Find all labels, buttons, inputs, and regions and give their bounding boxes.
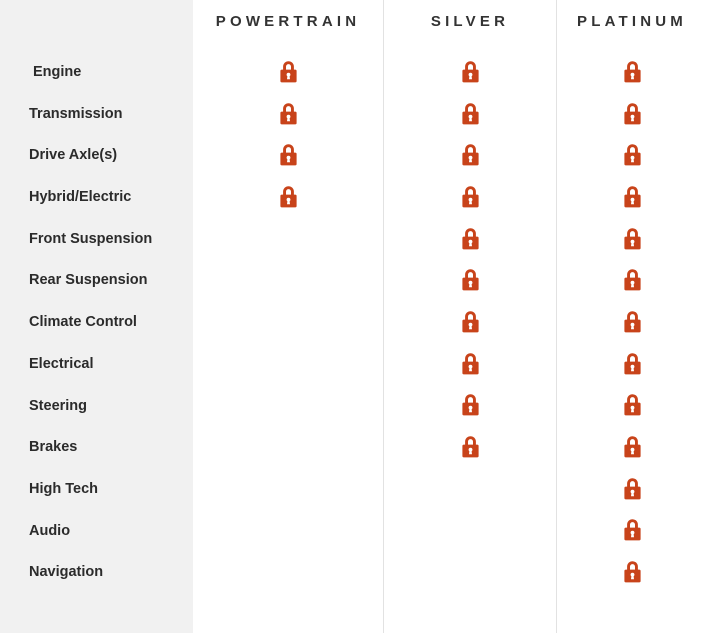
lock-icon — [279, 102, 298, 125]
lock-icon — [623, 185, 642, 208]
component-label: Transmission — [29, 94, 122, 136]
lock-icon — [623, 227, 642, 250]
lock-icon — [461, 185, 480, 208]
matrix-row: Hybrid/Electric — [0, 177, 707, 219]
component-label: Audio — [29, 511, 70, 553]
column-header-powertrain: POWERTRAIN — [193, 13, 383, 30]
coverage-cell-powertrain — [193, 552, 383, 594]
component-label: High Tech — [29, 469, 98, 511]
matrix-row: Steering — [0, 386, 707, 428]
lock-icon — [623, 102, 642, 125]
coverage-cell-silver — [384, 219, 556, 261]
lock-icon — [461, 310, 480, 333]
lock-icon — [623, 393, 642, 416]
plan-header-row: POWERTRAIN SILVER PLATINUM — [0, 0, 707, 52]
lock-icon — [623, 60, 642, 83]
lock-icon — [623, 143, 642, 166]
matrix-row: Navigation — [0, 552, 707, 594]
lock-icon — [461, 268, 480, 291]
matrix-row: High Tech — [0, 469, 707, 511]
coverage-cell-powertrain — [193, 52, 383, 94]
lock-icon — [461, 143, 480, 166]
lock-icon — [279, 60, 298, 83]
coverage-cell-powertrain — [193, 427, 383, 469]
lock-icon — [623, 477, 642, 500]
matrix-row: Front Suspension — [0, 219, 707, 261]
lock-icon — [461, 102, 480, 125]
coverage-cell-powertrain — [193, 177, 383, 219]
lock-icon — [461, 352, 480, 375]
coverage-cell-platinum — [557, 427, 707, 469]
coverage-cell-platinum — [557, 219, 707, 261]
coverage-cell-silver — [384, 511, 556, 553]
column-header-silver: SILVER — [384, 13, 556, 30]
matrix-row: Rear Suspension — [0, 260, 707, 302]
component-label: Navigation — [29, 552, 103, 594]
matrix-row: Engine — [0, 52, 707, 94]
coverage-cell-powertrain — [193, 135, 383, 177]
matrix-row: Audio — [0, 511, 707, 553]
lock-icon — [279, 185, 298, 208]
coverage-cell-powertrain — [193, 469, 383, 511]
coverage-cell-platinum — [557, 344, 707, 386]
lock-icon — [623, 560, 642, 583]
coverage-cell-platinum — [557, 302, 707, 344]
coverage-rows: EngineTransmissionDrive Axle(s)Hybrid/El… — [0, 52, 707, 594]
component-label: Front Suspension — [29, 219, 152, 261]
coverage-cell-silver — [384, 177, 556, 219]
lock-icon — [623, 518, 642, 541]
coverage-cell-platinum — [557, 52, 707, 94]
component-label: Brakes — [29, 427, 77, 469]
lock-icon — [461, 435, 480, 458]
coverage-cell-platinum — [557, 135, 707, 177]
component-label: Electrical — [29, 344, 94, 386]
coverage-cell-powertrain — [193, 94, 383, 136]
component-label: Rear Suspension — [29, 260, 147, 302]
coverage-cell-silver — [384, 469, 556, 511]
coverage-cell-powertrain — [193, 260, 383, 302]
coverage-cell-platinum — [557, 511, 707, 553]
component-label: Climate Control — [29, 302, 137, 344]
component-label: Steering — [29, 386, 87, 428]
lock-icon — [461, 393, 480, 416]
component-label: Engine — [33, 52, 81, 94]
matrix-row: Brakes — [0, 427, 707, 469]
coverage-comparison-matrix: POWERTRAIN SILVER PLATINUM EngineTransmi… — [0, 0, 707, 633]
coverage-cell-silver — [384, 552, 556, 594]
coverage-cell-silver — [384, 386, 556, 428]
lock-icon — [623, 310, 642, 333]
coverage-cell-platinum — [557, 94, 707, 136]
matrix-row: Transmission — [0, 94, 707, 136]
coverage-cell-powertrain — [193, 386, 383, 428]
lock-icon — [279, 143, 298, 166]
coverage-cell-silver — [384, 260, 556, 302]
coverage-cell-platinum — [557, 260, 707, 302]
coverage-cell-powertrain — [193, 219, 383, 261]
coverage-cell-powertrain — [193, 344, 383, 386]
coverage-cell-powertrain — [193, 302, 383, 344]
lock-icon — [461, 227, 480, 250]
coverage-cell-silver — [384, 302, 556, 344]
coverage-cell-powertrain — [193, 511, 383, 553]
coverage-cell-silver — [384, 52, 556, 94]
matrix-row: Drive Axle(s) — [0, 135, 707, 177]
matrix-row: Climate Control — [0, 302, 707, 344]
coverage-cell-silver — [384, 344, 556, 386]
coverage-cell-silver — [384, 135, 556, 177]
coverage-cell-silver — [384, 94, 556, 136]
coverage-cell-platinum — [557, 552, 707, 594]
coverage-cell-silver — [384, 427, 556, 469]
coverage-cell-platinum — [557, 386, 707, 428]
coverage-cell-platinum — [557, 177, 707, 219]
lock-icon — [461, 60, 480, 83]
matrix-row: Electrical — [0, 344, 707, 386]
lock-icon — [623, 435, 642, 458]
lock-icon — [623, 268, 642, 291]
lock-icon — [623, 352, 642, 375]
component-label: Drive Axle(s) — [29, 135, 117, 177]
coverage-cell-platinum — [557, 469, 707, 511]
column-header-platinum: PLATINUM — [557, 13, 707, 30]
component-label: Hybrid/Electric — [29, 177, 131, 219]
